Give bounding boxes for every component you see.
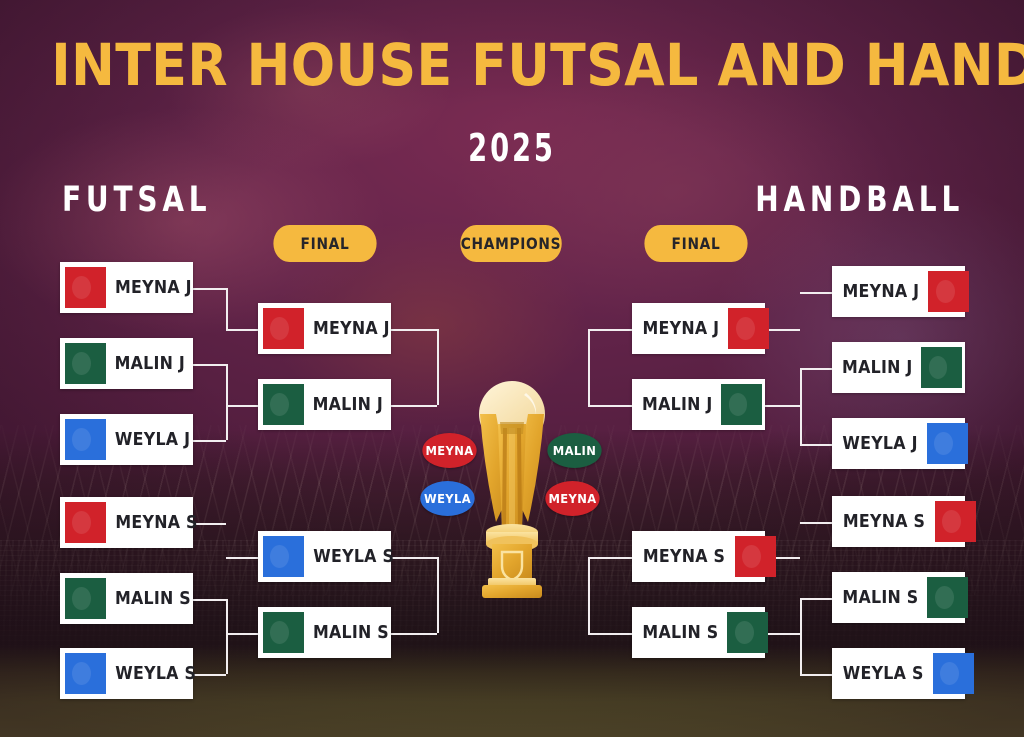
handball-r1-1-out: [800, 368, 832, 370]
futsal-r1-0-out: [193, 288, 226, 290]
handball-r1-5-out: [800, 674, 832, 676]
futsal-semifinal-card-0[interactable]: MEYNA J: [258, 303, 391, 354]
house-color-swatch-malin: [65, 578, 106, 619]
futsal-join-top-a: [226, 288, 228, 329]
house-color-swatch-malin: [721, 384, 762, 425]
futsal-semi-1-in: [226, 405, 258, 407]
handball-round1-card-1[interactable]: MALIN J: [832, 342, 965, 393]
house-color-swatch-weyla: [933, 653, 974, 694]
house-color-swatch-meyna: [65, 267, 106, 308]
handball-final-bot-join: [588, 557, 590, 633]
team-name-label: MEYNA J: [842, 281, 922, 302]
team-name-label: WEYLA S: [310, 546, 394, 567]
handball-semifinal-card-1[interactable]: MALIN J: [632, 379, 765, 430]
team-name-label: MALIN J: [309, 394, 383, 415]
house-color-swatch-malin: [263, 612, 304, 653]
handball-semi-3-in: [765, 633, 800, 635]
futsal-r1-2-out: [193, 440, 226, 442]
team-name-label: MALIN J: [642, 394, 716, 415]
team-name-label: WEYLA J: [111, 429, 190, 450]
futsal-final-top-b: [391, 405, 437, 407]
futsal-round1-card-0[interactable]: MEYNA J: [60, 262, 193, 313]
team-name-label: MALIN S: [111, 588, 191, 609]
futsal-final-top-join: [437, 329, 439, 405]
team-name-label: MEYNA J: [642, 318, 722, 339]
handball-semifinal-card-2[interactable]: MEYNA S: [632, 531, 765, 582]
house-color-swatch-meyna: [65, 502, 106, 543]
final-label-handball: FINAL: [644, 225, 747, 262]
futsal-r1-3-out: [193, 523, 226, 525]
futsal-round1-card-4[interactable]: MALIN S: [60, 573, 193, 624]
futsal-round1-card-2[interactable]: WEYLA J: [60, 414, 193, 465]
house-color-swatch-malin: [263, 384, 304, 425]
futsal-semi-3-in: [226, 633, 258, 635]
futsal-join-bot-b: [226, 599, 228, 674]
handball-r1-0-out: [800, 292, 832, 294]
team-name-label: MALIN S: [642, 622, 722, 643]
handball-round1-card-2[interactable]: WEYLA J: [832, 418, 965, 469]
handball-final-top-b: [588, 405, 632, 407]
team-name-label: WEYLA S: [843, 663, 927, 684]
house-color-swatch-meyna: [935, 501, 976, 542]
handball-semi-0-in: [765, 329, 800, 331]
house-color-swatch-weyla: [927, 423, 968, 464]
sport-label-handball: HANDBALL: [755, 180, 964, 220]
handball-round1-card-3[interactable]: MEYNA S: [832, 496, 965, 547]
handball-r1-4-out: [800, 598, 832, 600]
final-label-futsal: FINAL: [273, 225, 376, 262]
futsal-semifinal-card-3[interactable]: MALIN S: [258, 607, 391, 658]
house-color-swatch-malin: [927, 577, 968, 618]
trophy-icon: [462, 372, 562, 600]
house-color-swatch-malin: [727, 612, 768, 653]
house-color-swatch-meyna: [928, 271, 969, 312]
handball-round1-card-0[interactable]: MEYNA J: [832, 266, 965, 317]
futsal-semifinal-card-1[interactable]: MALIN J: [258, 379, 391, 430]
handball-final-top-a: [588, 329, 632, 331]
futsal-join-top-b: [226, 364, 228, 440]
futsal-semifinal-card-2[interactable]: WEYLA S: [258, 531, 391, 582]
team-name-label: MEYNA J: [309, 318, 389, 339]
house-color-swatch-weyla: [65, 419, 106, 460]
page-title: INTER HOUSE FUTSAL AND HANDBALL: [51, 36, 973, 94]
handball-semifinal-card-0[interactable]: MEYNA J: [632, 303, 765, 354]
handball-semifinal-card-3[interactable]: MALIN S: [632, 607, 765, 658]
futsal-final-bot-a: [391, 557, 437, 559]
futsal-semi-0-in: [226, 329, 258, 331]
futsal-r1-5-out: [193, 674, 226, 676]
handball-final-top-join: [588, 329, 590, 405]
house-color-swatch-meyna: [728, 308, 769, 349]
futsal-round1-card-5[interactable]: WEYLA S: [60, 648, 193, 699]
handball-semi-1-in: [765, 405, 800, 407]
handball-r1-3-out: [800, 522, 832, 524]
team-name-label: WEYLA J: [842, 433, 921, 454]
team-name-label: MEYNA J: [111, 277, 191, 298]
futsal-final-bot-join: [437, 557, 439, 633]
handball-join-top-b: [800, 368, 802, 444]
futsal-r1-1-out: [193, 364, 226, 366]
team-name-label: MEYNA S: [843, 511, 929, 532]
house-color-swatch-malin: [65, 343, 106, 384]
futsal-semi-2-in: [226, 557, 258, 559]
handball-final-bot-a: [588, 557, 632, 559]
champion-badge-bottom-right[interactable]: MEYNA: [545, 481, 599, 516]
year-label: 2025: [143, 126, 880, 170]
handball-r1-2-out: [800, 444, 832, 446]
futsal-round1-card-1[interactable]: MALIN J: [60, 338, 193, 389]
team-name-label: MALIN J: [842, 357, 916, 378]
champion-badge-bottom-left[interactable]: WEYLA: [420, 481, 474, 516]
handball-round1-card-4[interactable]: MALIN S: [832, 572, 965, 623]
house-color-swatch-weyla: [65, 653, 106, 694]
futsal-final-bot-b: [391, 633, 437, 635]
team-name-label: MALIN S: [842, 587, 922, 608]
handball-round1-card-5[interactable]: WEYLA S: [832, 648, 965, 699]
team-name-label: MALIN S: [309, 622, 389, 643]
futsal-round1-card-3[interactable]: MEYNA S: [60, 497, 193, 548]
futsal-final-top-a: [391, 329, 437, 331]
house-color-swatch-meyna: [735, 536, 776, 577]
team-name-label: MALIN J: [111, 353, 185, 374]
handball-final-bot-b: [588, 633, 632, 635]
house-color-swatch-malin: [921, 347, 962, 388]
team-name-label: WEYLA S: [112, 663, 196, 684]
house-color-swatch-weyla: [263, 536, 304, 577]
handball-join-bot-b: [800, 598, 802, 674]
champions-label: CHAMPIONS: [460, 225, 561, 262]
champion-badge-top-right[interactable]: MALIN: [547, 433, 601, 468]
tournament-bracket-poster: INTER HOUSE FUTSAL AND HANDBALL 2025 FUT…: [0, 0, 1024, 737]
house-color-swatch-meyna: [263, 308, 304, 349]
team-name-label: MEYNA S: [643, 546, 729, 567]
team-name-label: MEYNA S: [112, 512, 198, 533]
champion-badge-top-left[interactable]: MEYNA: [422, 433, 476, 468]
futsal-r1-4-out: [193, 599, 226, 601]
sport-label-futsal: FUTSAL: [62, 180, 211, 220]
